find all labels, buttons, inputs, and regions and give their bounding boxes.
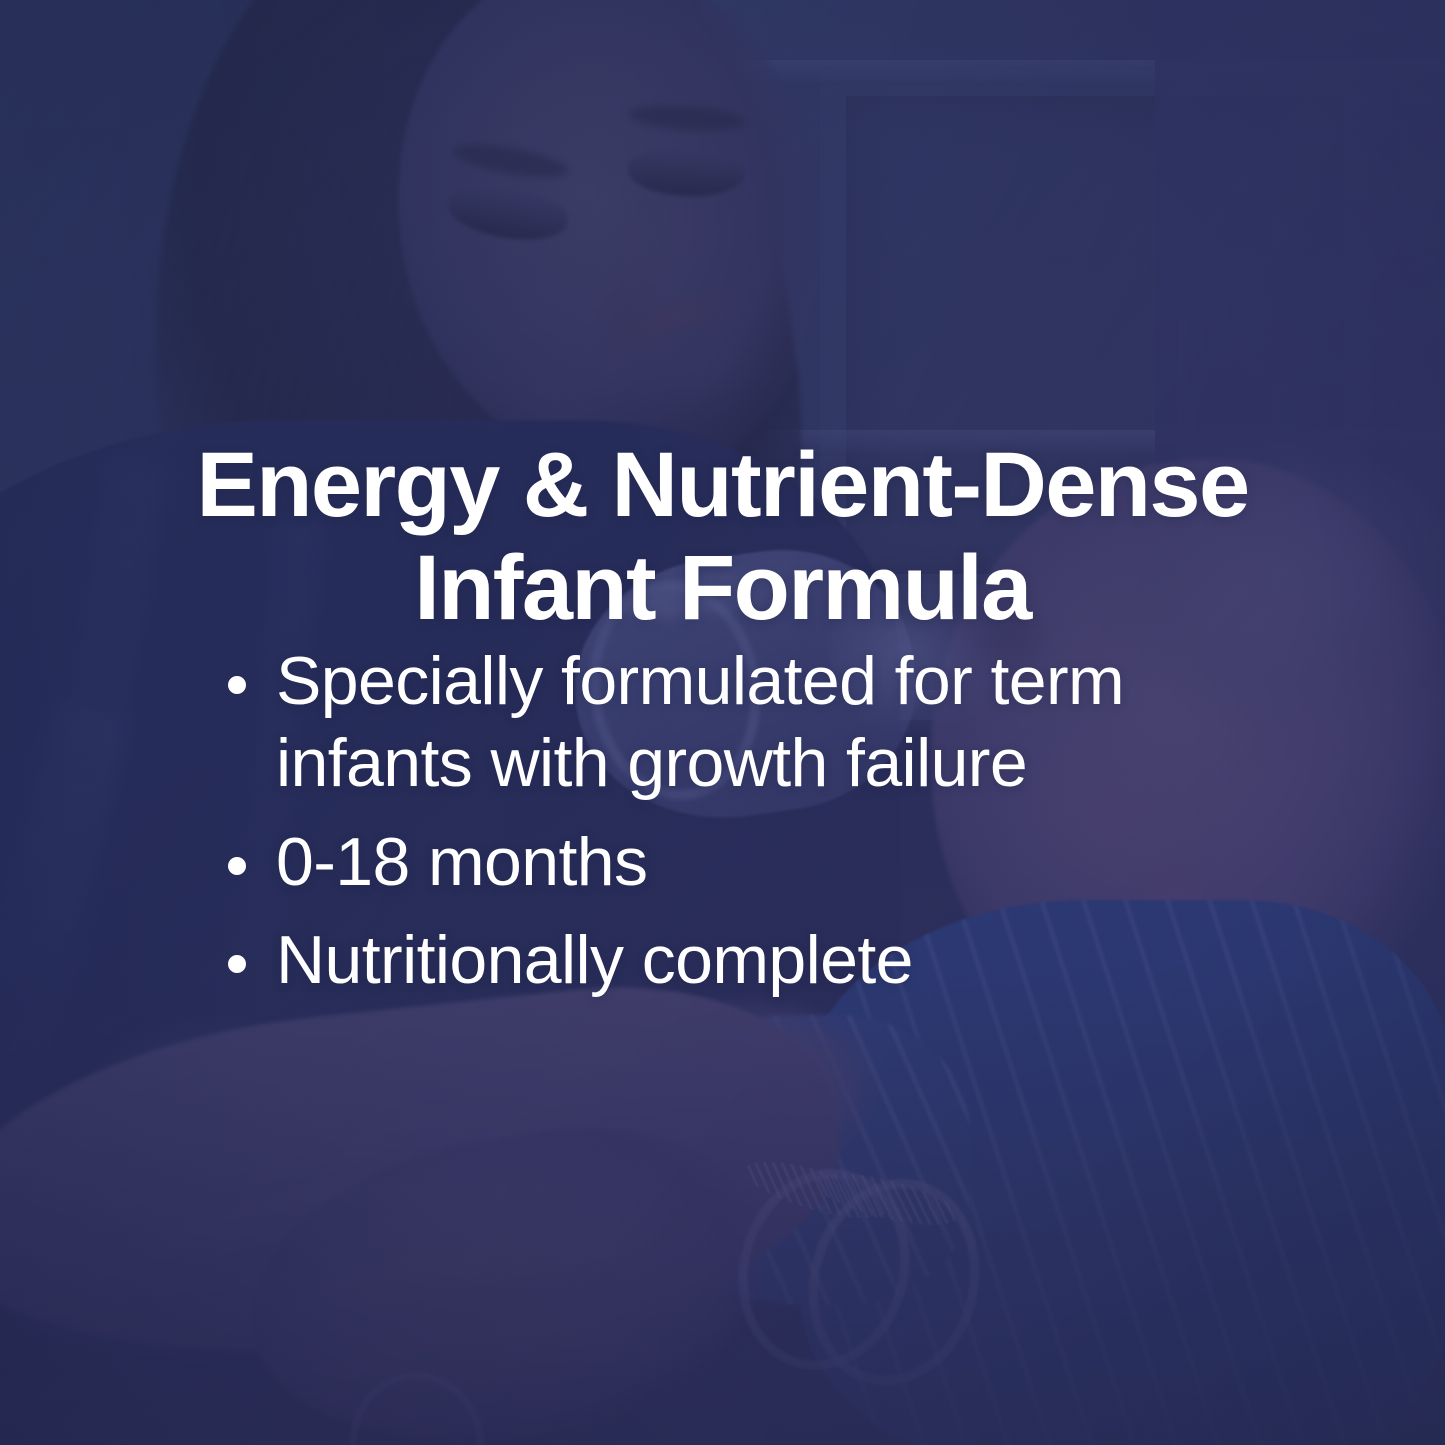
list-item-label: 0-18 months xyxy=(276,824,647,900)
list-item: 0-18 months xyxy=(222,821,1282,903)
promo-content: Energy & Nutrient-Dense Infant Formula S… xyxy=(0,0,1445,1445)
feature-bullet-list: Specially formulated for term infants wi… xyxy=(222,640,1282,1001)
list-item-label: Specially formulated for term infants wi… xyxy=(276,643,1124,801)
headline-line-2: Infant Formula xyxy=(100,537,1345,640)
bullet-dot-icon xyxy=(228,955,246,973)
page-title: Energy & Nutrient-Dense Infant Formula xyxy=(0,434,1445,640)
product-promo-card: Energy & Nutrient-Dense Infant Formula S… xyxy=(0,0,1445,1445)
list-item-label: Nutritionally complete xyxy=(276,922,913,998)
headline-line-1: Energy & Nutrient-Dense xyxy=(100,434,1345,537)
list-item: Specially formulated for term infants wi… xyxy=(222,640,1282,805)
bullet-dot-icon xyxy=(228,676,246,694)
bullet-dot-icon xyxy=(228,857,246,875)
list-item: Nutritionally complete xyxy=(222,919,1282,1001)
